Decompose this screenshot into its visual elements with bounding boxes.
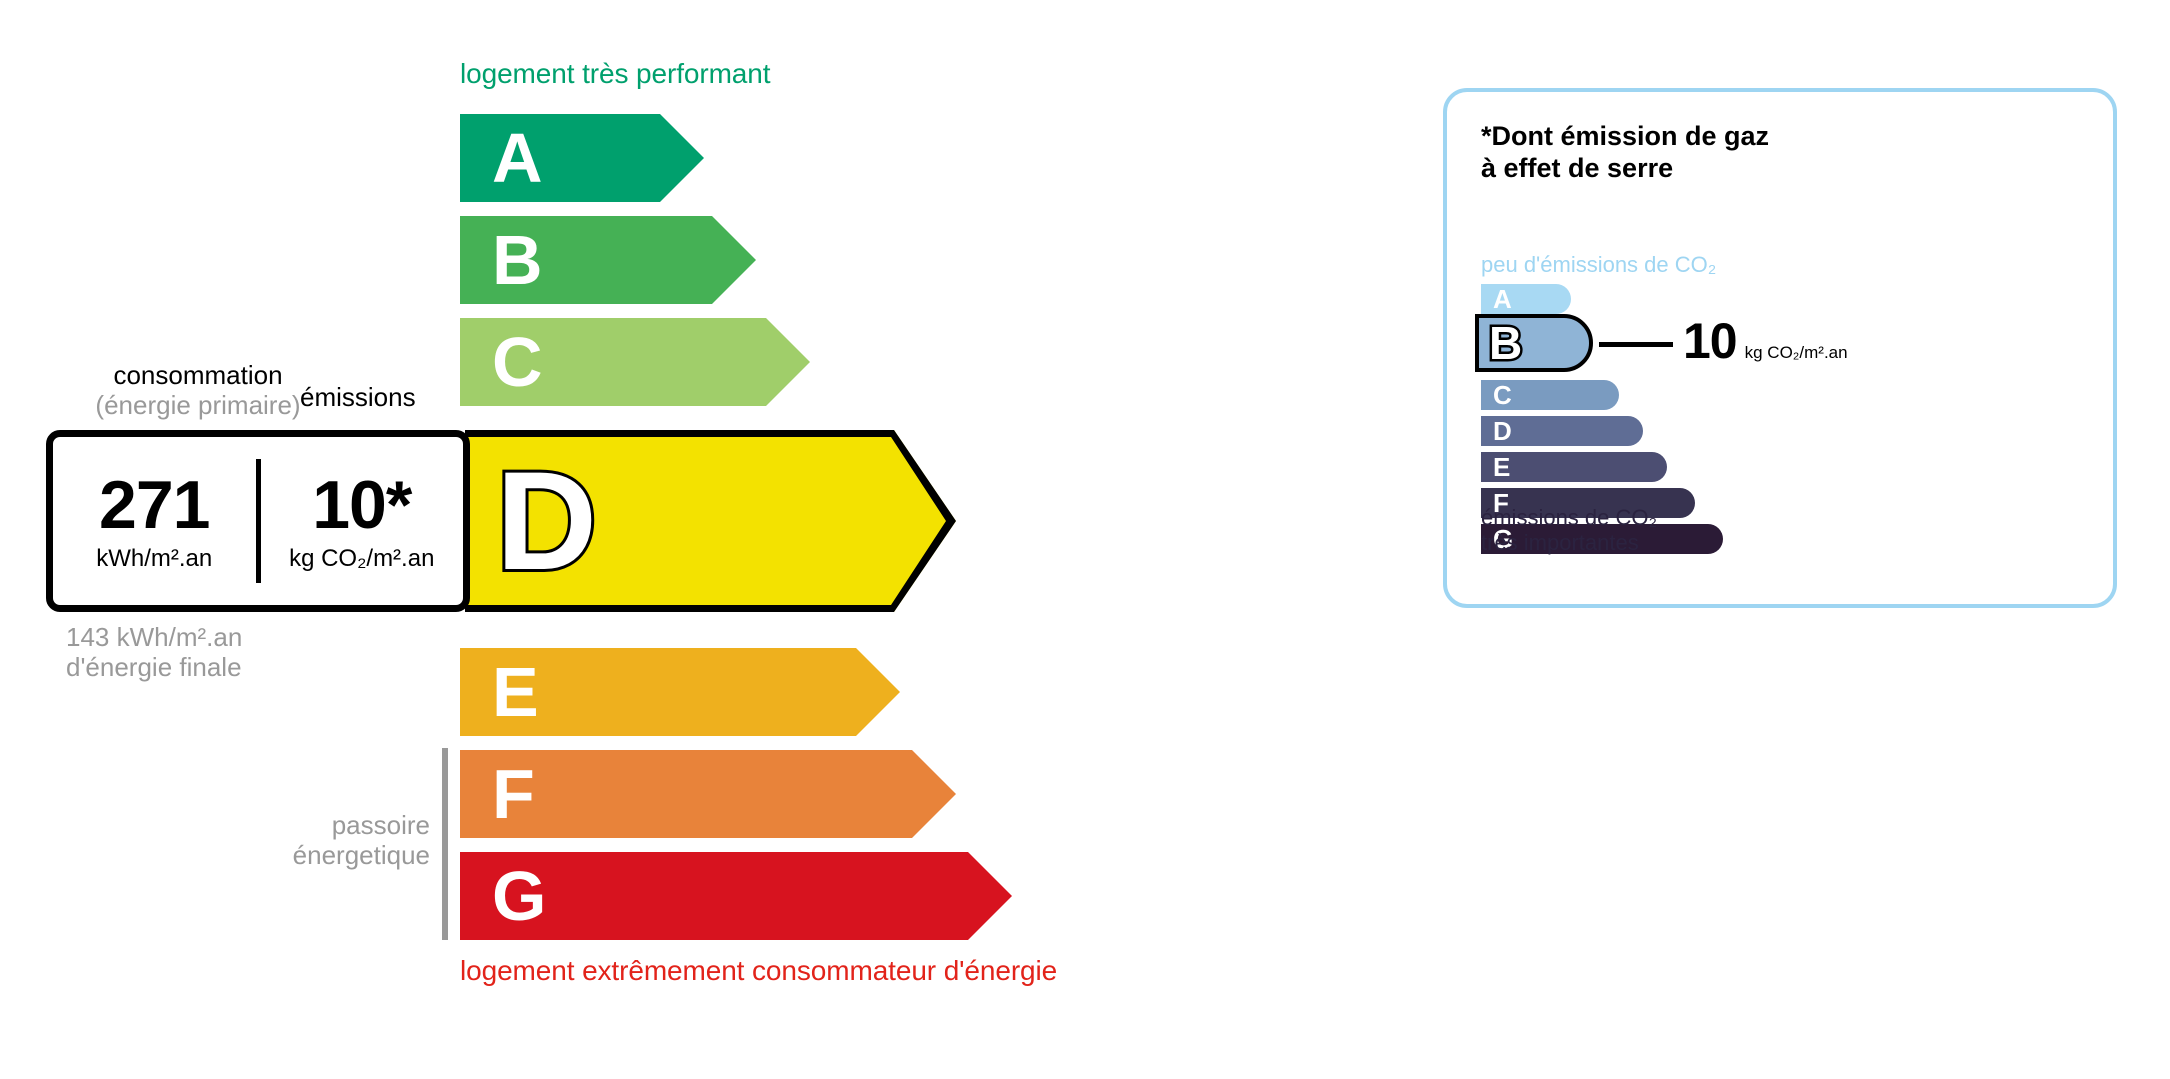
co2-panel-title: *Dont émission de gaz à effet de serre (1481, 120, 1769, 184)
co2-top-caption: peu d'émissions de CO₂ (1481, 252, 1716, 278)
energy-performance-scale: logement très performant A B C D 271 kWh… (0, 0, 1400, 1079)
energy-class-letter-b: B (492, 216, 543, 304)
co2-class-row-d: D (1481, 416, 1643, 446)
co2-class-letter-d: D (1493, 416, 1512, 446)
value-readout-box: 271 kWh/m².an 10* kg CO₂/m².an (46, 430, 470, 612)
emissions-value-cell: 10* kg CO₂/m².an (261, 437, 464, 605)
passoire-energetique-label: passoire énergetique (130, 810, 430, 870)
co2-value-callout: 10 kg CO₂/m².an (1683, 314, 1848, 368)
energy-class-row-a: A (460, 114, 704, 202)
consumption-value-cell: 271 kWh/m².an (53, 437, 256, 605)
co2-class-row-e: E (1481, 452, 1667, 482)
co2-class-letter-c: C (1493, 380, 1512, 410)
scale-bottom-caption: logement extrêmement consommateur d'éner… (460, 955, 1057, 987)
co2-class-letter-a: A (1493, 284, 1512, 314)
consumption-value: 271 (99, 469, 209, 541)
scale-top-caption: logement très performant (460, 58, 770, 90)
energy-class-row-e: E (460, 648, 900, 736)
co2-class-letter-b: B (1489, 316, 1522, 370)
energy-class-row-f: F (460, 750, 956, 838)
consumption-label-main: consommation (113, 360, 282, 390)
emissions-label: émissions (300, 382, 416, 413)
co2-emissions-panel: *Dont émission de gaz à effet de serre p… (1443, 88, 2117, 608)
co2-value-leader-line (1599, 342, 1673, 347)
co2-class-row-b-highlighted: B (1475, 314, 1593, 372)
final-energy-note: 143 kWh/m².an d'énergie finale (66, 622, 242, 682)
emissions-unit: kg CO₂/m².an (289, 545, 434, 573)
co2-value-number: 10 (1683, 314, 1737, 368)
energy-class-letter-f: F (492, 750, 535, 838)
co2-class-letter-e: E (1493, 452, 1510, 482)
energy-class-row-c: C (460, 318, 810, 406)
co2-value-unit: kg CO₂/m².an (1745, 343, 1848, 363)
energy-class-letter-e: E (492, 648, 539, 736)
energy-class-row-g: G (460, 852, 1012, 940)
co2-bottom-caption: émissions de CO₂ très importantes (1481, 505, 1657, 555)
co2-class-row-a: A (1481, 284, 1571, 314)
energy-class-letter-d: D (496, 450, 597, 592)
consumption-unit: kWh/m².an (96, 545, 212, 573)
energy-class-row-d-highlighted: D 271 kWh/m².an 10* kg CO₂/m².an (46, 430, 956, 612)
energy-class-letter-c: C (492, 318, 543, 406)
energy-class-letter-a: A (492, 114, 543, 202)
emissions-value: 10* (312, 469, 411, 541)
energy-class-row-b: B (460, 216, 756, 304)
energy-class-letter-g: G (492, 852, 546, 940)
co2-class-row-c: C (1481, 380, 1619, 410)
passoire-energetique-bracket (442, 748, 448, 940)
